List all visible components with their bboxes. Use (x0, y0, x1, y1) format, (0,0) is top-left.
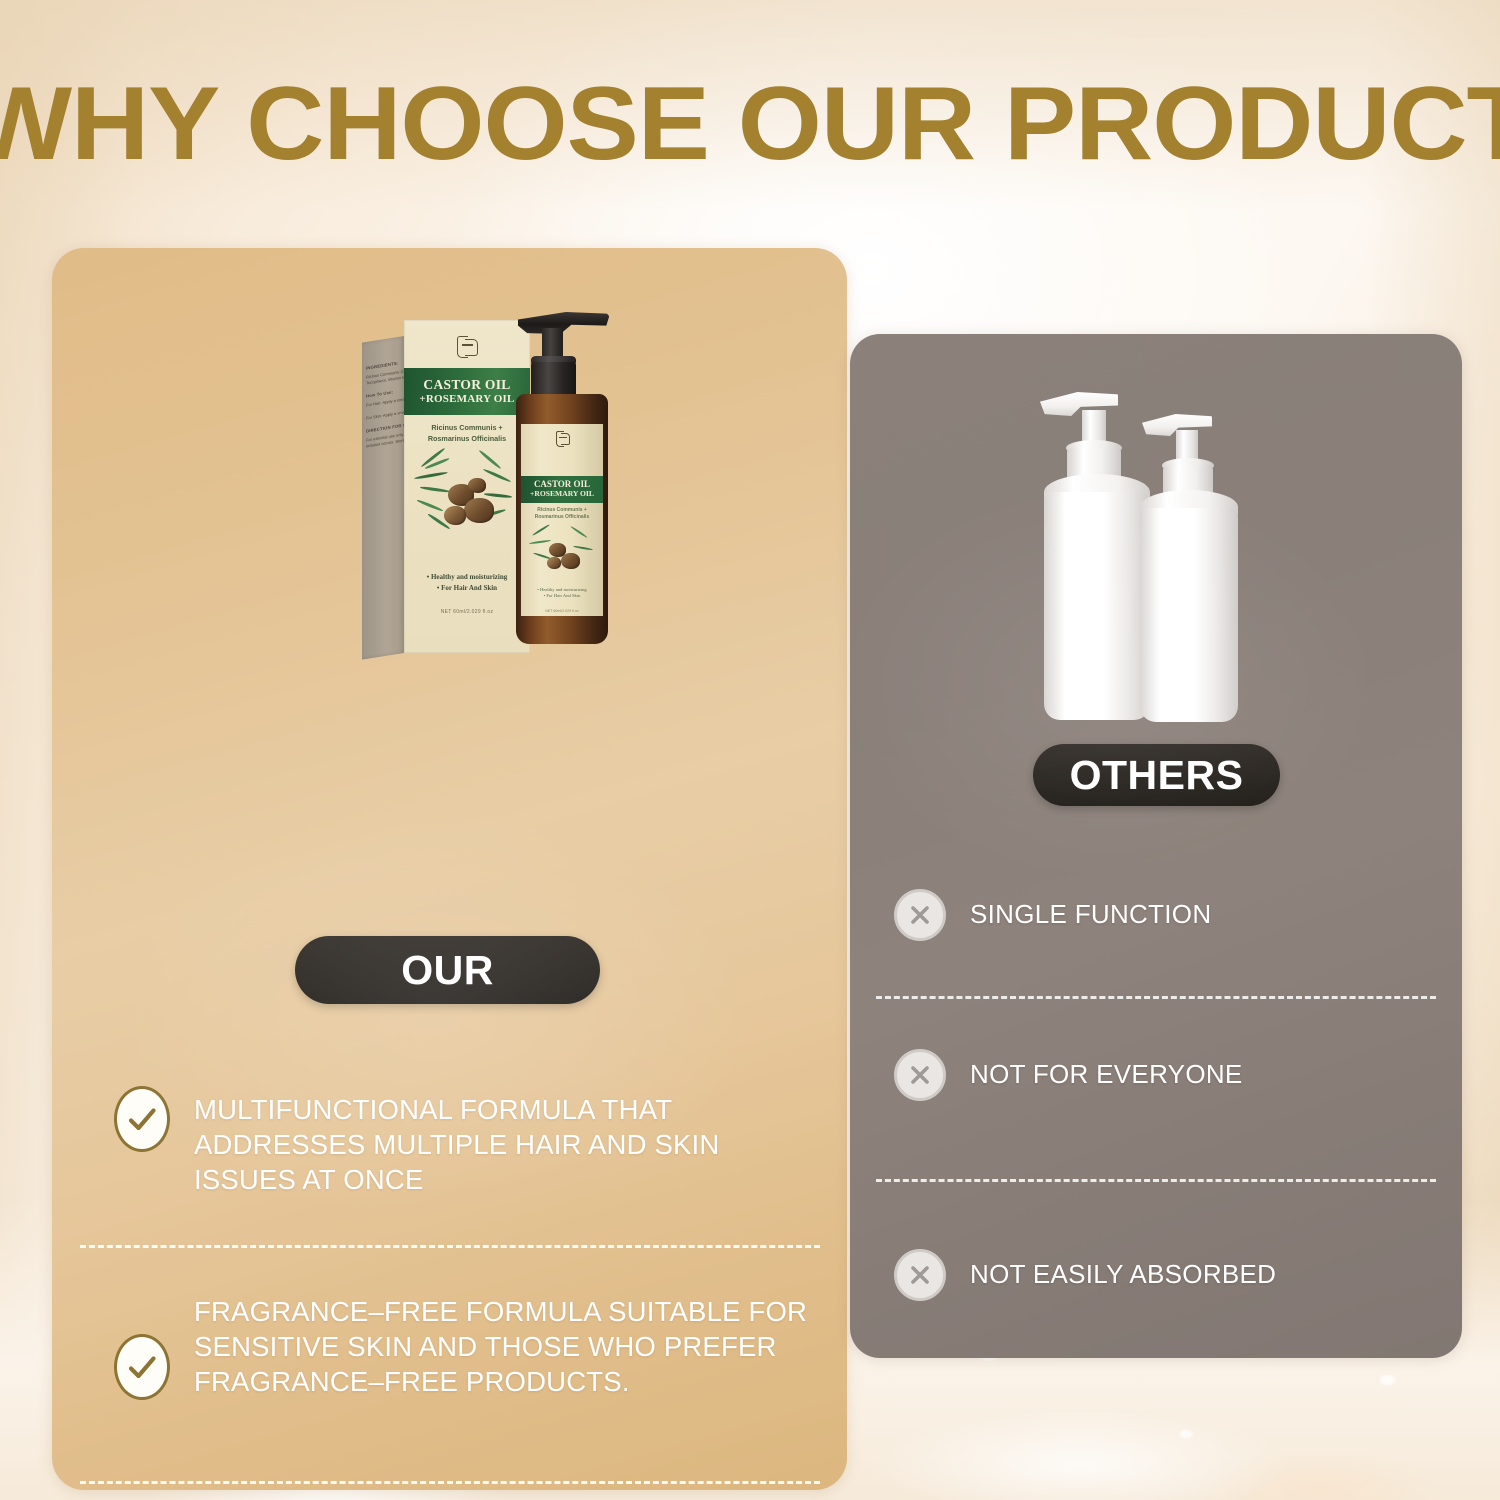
others-product-image (1018, 368, 1298, 728)
bottle-body (1044, 492, 1150, 720)
our-feature-1-label: MULTIFUNCTIONAL FORMULA THAT ADDRESSES M… (194, 1086, 804, 1198)
brand-monogram-logo (456, 336, 478, 358)
others-product-panel: OTHERS SINGLE FUNCTION NOT FOR EVERYONE … (850, 334, 1462, 1358)
bottle-latin-1: Ricinus Communis + (521, 507, 603, 514)
bottle-body (1140, 508, 1238, 722)
pump-head (518, 312, 610, 334)
bottle-latin-names: Ricinus Communis + Rosmarinus Officinali… (521, 507, 603, 521)
others-feature-3-label: NOT EASILY ABSORBED (970, 1258, 1276, 1292)
bottle-botanical-illustration (521, 523, 603, 585)
product-pump-bottle: CASTOR OIL +ROSEMARY OIL Ricinus Communi… (502, 306, 620, 651)
bottle-label: CASTOR OIL +ROSEMARY OIL Ricinus Communi… (521, 424, 603, 616)
our-badge: OUR (295, 936, 600, 1004)
bottle-brand-monogram-logo (555, 431, 570, 446)
others-divider-1 (876, 996, 1436, 999)
others-badge: OTHERS (1033, 744, 1280, 806)
others-feature-2-label: NOT FOR EVERYONE (970, 1058, 1243, 1092)
check-icon (114, 1086, 170, 1152)
our-divider-2 (80, 1481, 820, 1484)
x-icon (894, 1049, 946, 1101)
others-feature-1: SINGLE FUNCTION (894, 889, 1414, 941)
our-feature-2: FRAGRANCE–FREE FORMULA SUITABLE FOR SENS… (114, 1288, 814, 1400)
bottle-benefit-2: • For Hair And Skin (521, 593, 603, 600)
x-icon (894, 889, 946, 941)
bottle-net-weight: NET 60ml/2.029 fl.oz (521, 609, 603, 613)
x-icon (894, 1249, 946, 1301)
our-feature-1: MULTIFUNCTIONAL FORMULA THAT ADDRESSES M… (114, 1086, 804, 1198)
others-divider-2 (876, 1179, 1436, 1182)
our-feature-2-label: FRAGRANCE–FREE FORMULA SUITABLE FOR SENS… (194, 1288, 814, 1400)
others-feature-1-label: SINGLE FUNCTION (970, 898, 1211, 932)
bottle-benefits: • Healthy and moisturizing • For Hair An… (521, 587, 603, 600)
pump-collar (531, 362, 576, 398)
our-product-panel: INGREDIENTS: Ricinus Communis (Castor) S… (52, 248, 847, 1490)
white-pump-bottle-right (1136, 410, 1256, 728)
bottle-latin-2: Rosmarinus Officinalis (521, 514, 603, 521)
bottle-title-band: CASTOR OIL +ROSEMARY OIL (521, 476, 603, 503)
others-feature-2: NOT FOR EVERYONE (894, 1049, 1414, 1101)
pump-nozzle (1040, 392, 1118, 416)
bottle-product-name-2: +ROSEMARY OIL (523, 490, 601, 499)
our-divider-1 (80, 1245, 820, 1248)
others-feature-3: NOT EASILY ABSORBED (894, 1249, 1424, 1301)
check-icon (114, 1334, 170, 1400)
bottle-benefit-1: • Healthy and moisturizing (521, 587, 603, 594)
page-title: WHY CHOOSE OUR PRODUCT (0, 72, 1500, 176)
our-product-image: INGREDIENTS: Ricinus Communis (Castor) S… (310, 306, 640, 666)
